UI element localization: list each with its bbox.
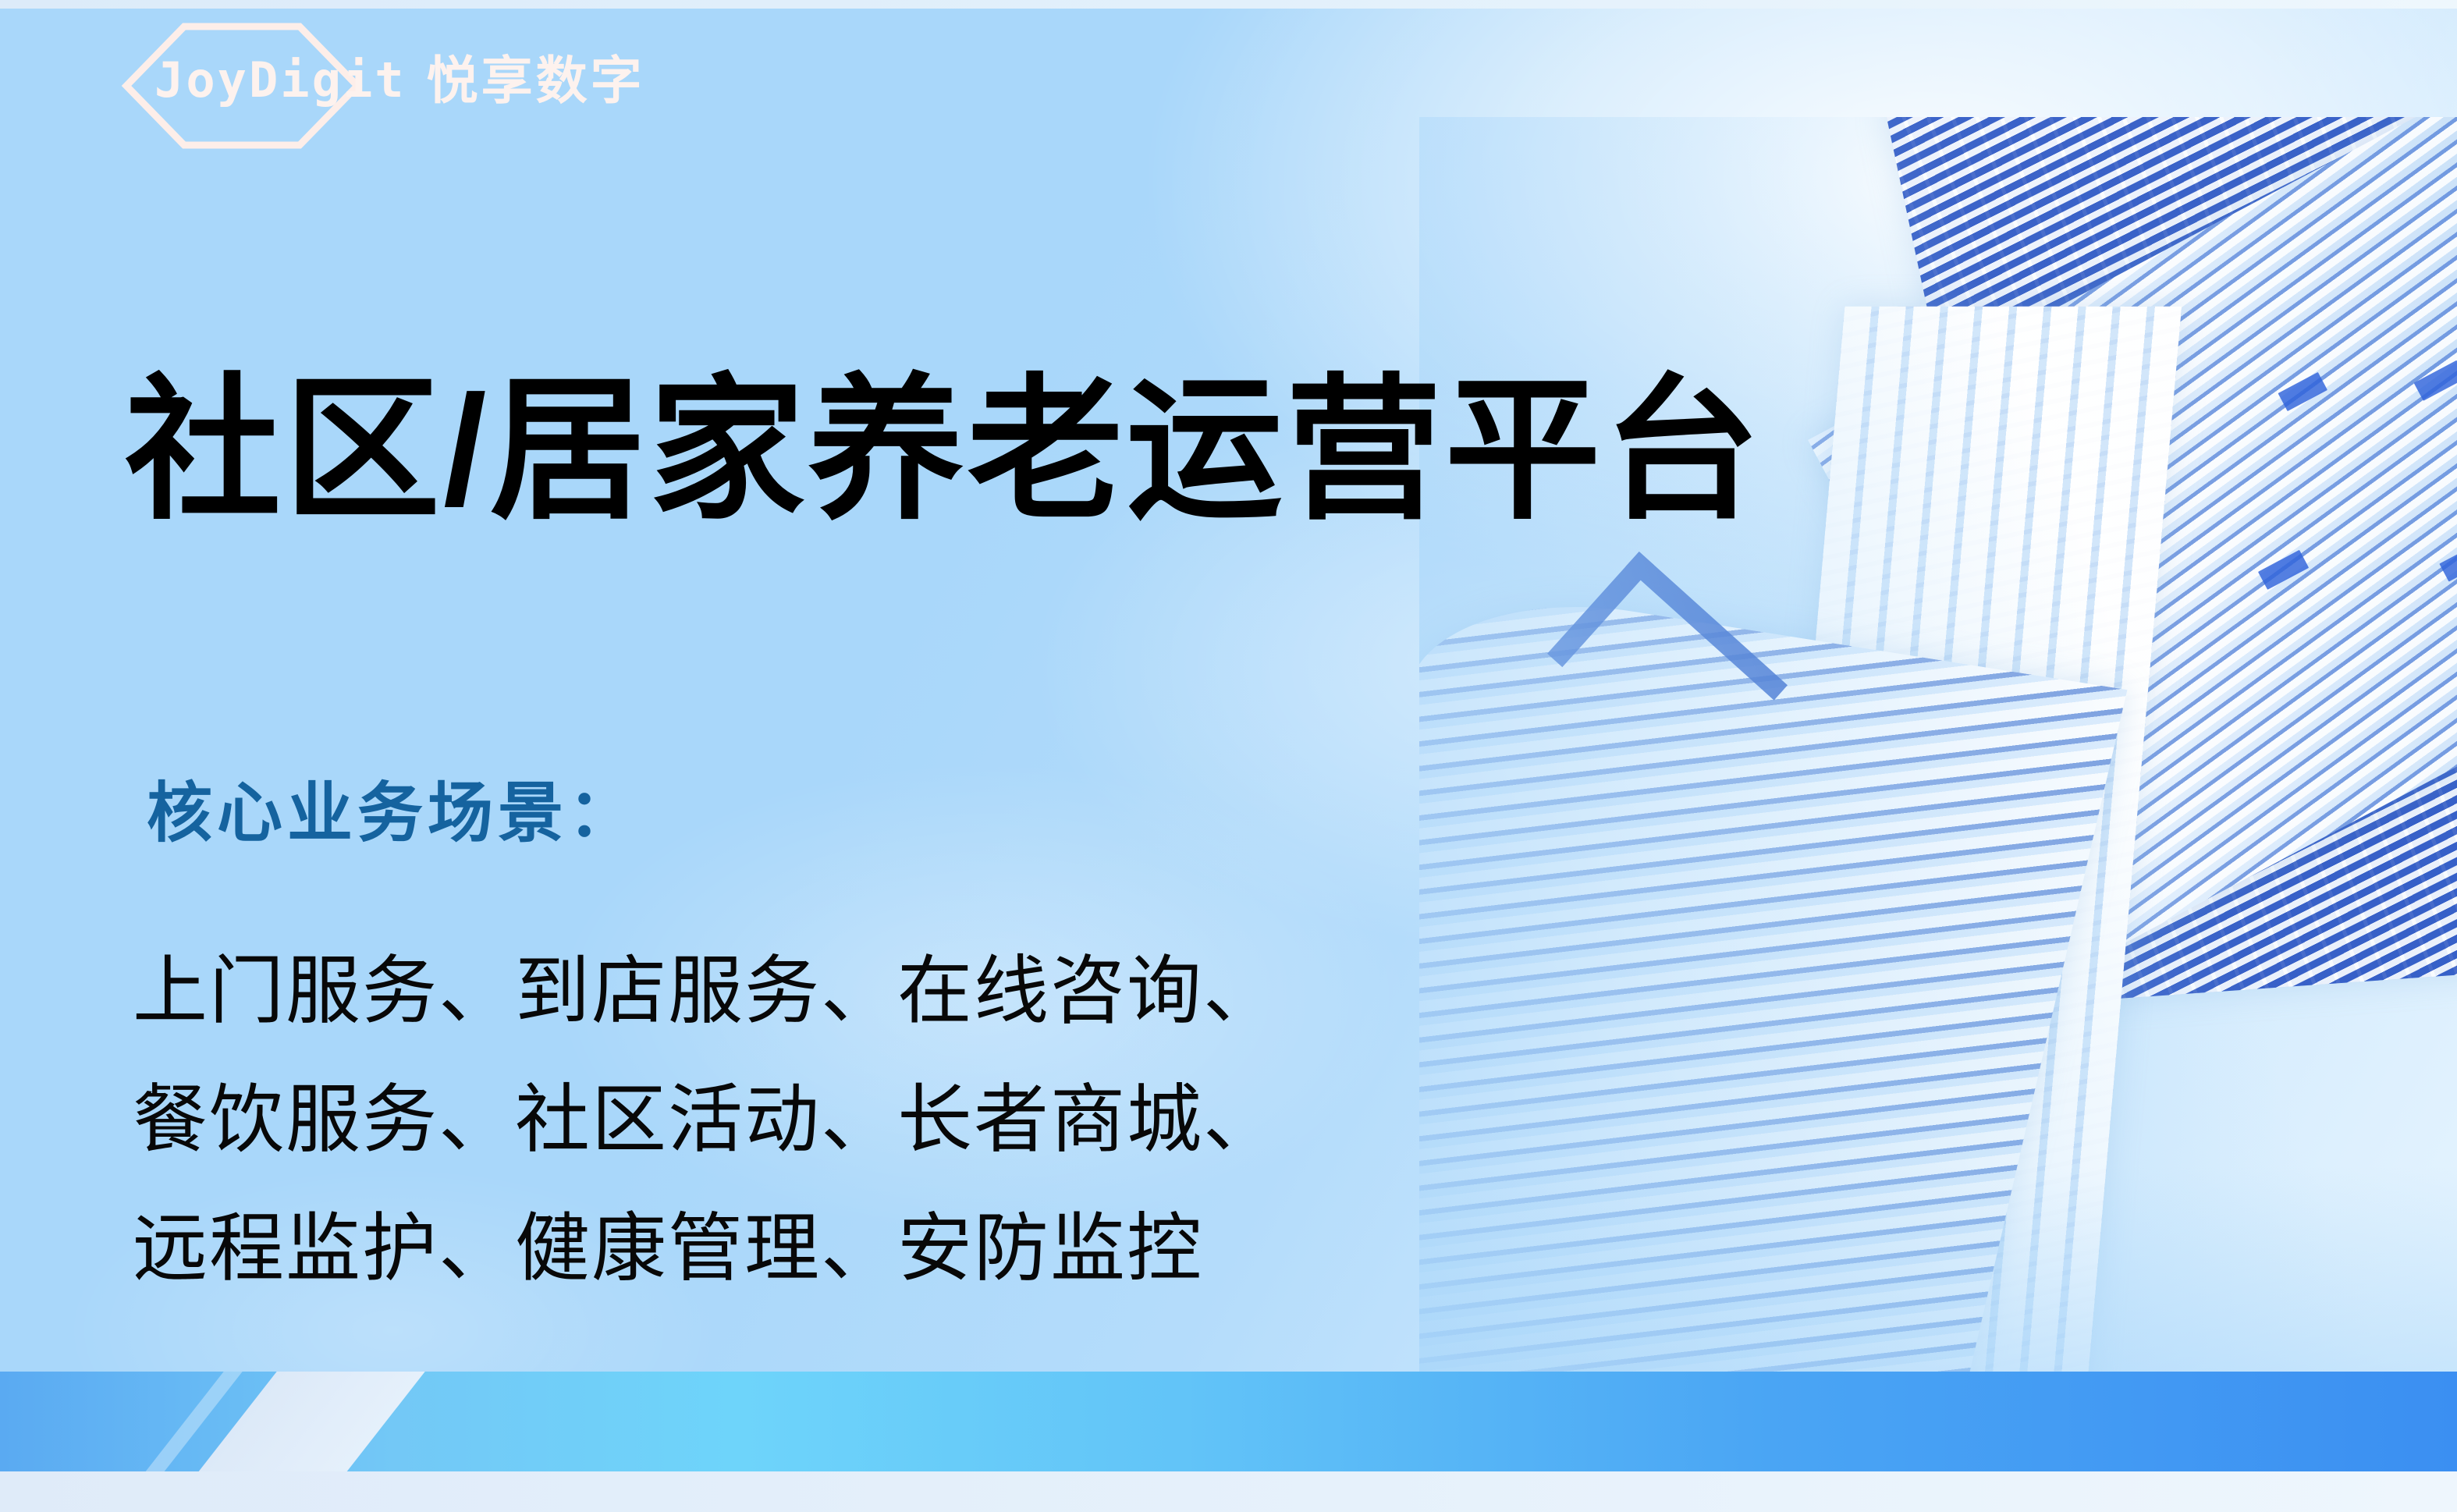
brand-name-cn: 悦享数字: [427, 55, 645, 106]
section-label: 核心业务场景：: [147, 780, 638, 846]
brand-mark-text: JoyDigit: [145, 56, 407, 105]
skyscraper-photo: [1419, 117, 2457, 1397]
ribbon-footer-band: [0, 1471, 2457, 1512]
scenario-line: 上门服务、到店服务、在线咨询、: [133, 927, 1280, 1056]
brand-logo[interactable]: JoyDigit 悦享数字: [145, 34, 645, 126]
bottom-ribbon: [0, 1372, 2457, 1471]
page-title: 社区/居家养老运营平台: [125, 367, 1763, 535]
top-edge-band: [0, 0, 2457, 9]
scenario-line: 餐饮服务、社区活动、长者商城、: [133, 1056, 1280, 1184]
scenario-line: 远程监护、健康管理、安防监控: [133, 1184, 1280, 1313]
scenario-list: 上门服务、到店服务、在线咨询、 餐饮服务、社区活动、长者商城、 远程监护、健康管…: [133, 927, 1280, 1313]
slide-canvas: JoyDigit 悦享数字 社区/居家养老运营平台 核心业务场景： 上门服务、到…: [0, 0, 2457, 1512]
